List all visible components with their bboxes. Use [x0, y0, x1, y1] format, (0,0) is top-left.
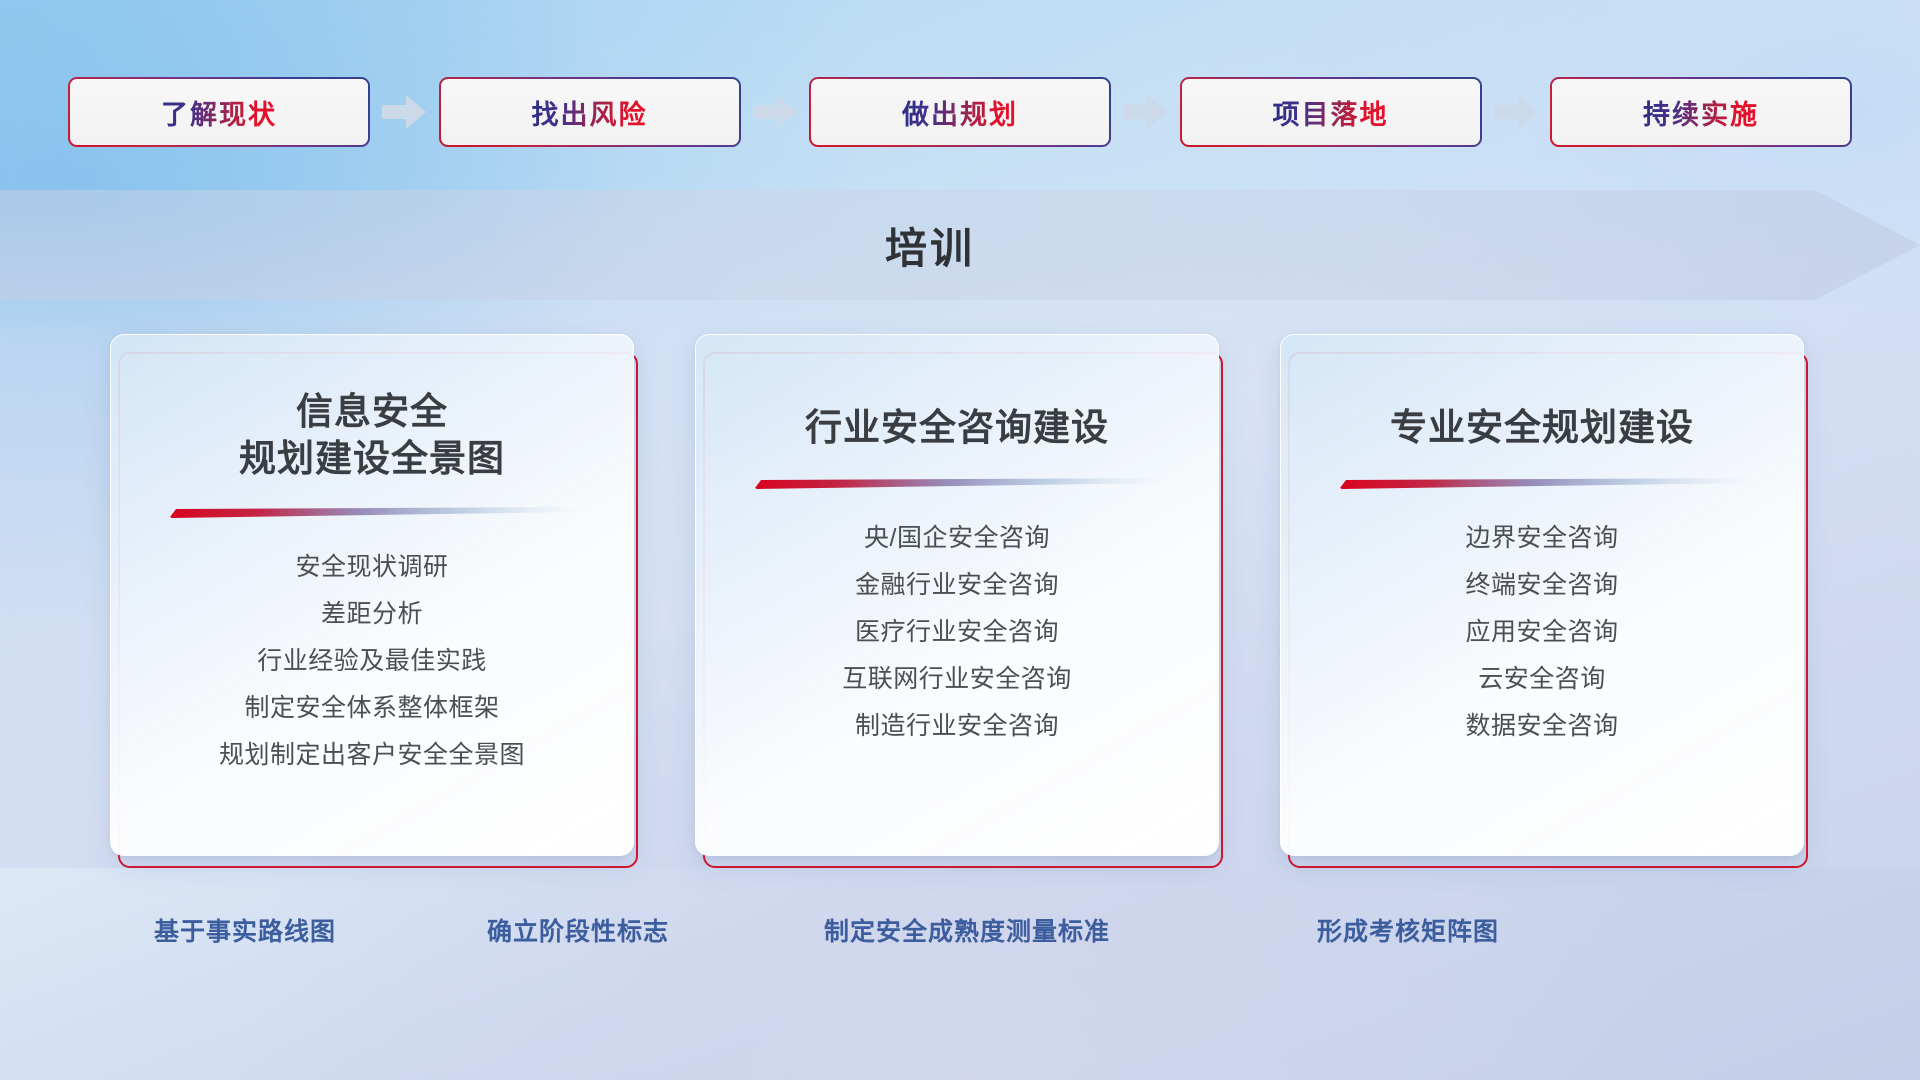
process-step-2[interactable]: 找出风险 [439, 77, 741, 147]
list-item: 金融行业安全咨询 [696, 562, 1218, 609]
list-item: 规划制定出客户安全全景图 [111, 732, 633, 779]
card-3-title: 专业安全规划建设 [1390, 405, 1694, 452]
list-item: 边界安全咨询 [1281, 515, 1803, 562]
process-step-5[interactable]: 持续实施 [1550, 77, 1852, 147]
list-item: 终端安全咨询 [1281, 562, 1803, 609]
process-step-4[interactable]: 项目落地 [1180, 77, 1482, 147]
process-step-5-label: 持续实施 [1643, 93, 1759, 132]
list-item: 制定安全体系整体框架 [111, 685, 633, 732]
process-step-3[interactable]: 做出规划 [809, 77, 1111, 147]
card-2[interactable]: 行业安全咨询建设 央/国企安全咨询 [695, 334, 1219, 856]
card-3-list: 边界安全咨询 终端安全咨询 应用安全咨询 云安全咨询 数据安全咨询 [1281, 515, 1803, 750]
chevron-right-arrow-icon [382, 95, 426, 129]
process-step-2-label: 找出风险 [532, 93, 648, 132]
list-item: 应用安全咨询 [1281, 609, 1803, 656]
card-1[interactable]: 信息安全 规划建设全景图 安全现状调研 [110, 334, 634, 856]
process-step-3-label: 做出规划 [902, 93, 1018, 132]
card-1-divider [170, 507, 574, 518]
chevron-right-arrow-icon [753, 95, 797, 129]
card-1-title: 信息安全 规划建设全景图 [239, 389, 505, 483]
list-item: 差距分析 [111, 591, 633, 638]
card-2-list: 央/国企安全咨询 金融行业安全咨询 医疗行业安全咨询 互联网行业安全咨询 制造行… [696, 515, 1218, 750]
process-step-1-inner: 了解现状 [70, 79, 368, 145]
card-2-title: 行业安全咨询建设 [805, 405, 1109, 452]
list-item: 制造行业安全咨询 [696, 703, 1218, 750]
process-step-5-inner: 持续实施 [1552, 79, 1850, 145]
process-step-4-label: 项目落地 [1273, 93, 1389, 132]
process-step-row: 了解现状 找出风险 做出规划 项目落地 持续实施 [68, 76, 1852, 148]
chevron-right-arrow-icon [1494, 95, 1538, 129]
card-3[interactable]: 专业安全规划建设 边界安全咨询 [1280, 334, 1804, 856]
process-step-4-inner: 项目落地 [1182, 79, 1480, 145]
list-item: 安全现状调研 [111, 544, 633, 591]
card-2-divider [755, 478, 1159, 489]
bottom-label-row: 基于事实路线图 确立阶段性标志 制定安全成熟度测量标准 形成考核矩阵图 [0, 912, 1920, 958]
list-item: 互联网行业安全咨询 [696, 656, 1218, 703]
process-step-1[interactable]: 了解现状 [68, 77, 370, 147]
bottom-label-1: 基于事实路线图 [154, 912, 336, 948]
list-item: 央/国企安全咨询 [696, 515, 1218, 562]
bottom-label-3: 制定安全成熟度测量标准 [824, 912, 1110, 948]
card-3-divider [1340, 478, 1744, 489]
card-1-list: 安全现状调研 差距分析 行业经验及最佳实践 制定安全体系整体框架 规划制定出客户… [111, 544, 633, 779]
list-item: 云安全咨询 [1281, 656, 1803, 703]
process-step-3-inner: 做出规划 [811, 79, 1109, 145]
card-2-wrapper: 行业安全咨询建设 央/国企安全咨询 [695, 334, 1225, 870]
bottom-label-4: 形成考核矩阵图 [1317, 912, 1499, 948]
bottom-label-2: 确立阶段性标志 [487, 912, 669, 948]
list-item: 行业经验及最佳实践 [111, 638, 633, 685]
card-row: 信息安全 规划建设全景图 安全现状调研 [110, 334, 1810, 870]
list-item: 医疗行业安全咨询 [696, 609, 1218, 656]
card-3-wrapper: 专业安全规划建设 边界安全咨询 [1280, 334, 1810, 870]
card-1-wrapper: 信息安全 规划建设全景图 安全现状调研 [110, 334, 640, 870]
training-banner: 培训 [0, 190, 1920, 300]
process-step-1-label: 了解现状 [161, 93, 277, 132]
list-item: 数据安全咨询 [1281, 703, 1803, 750]
process-step-2-inner: 找出风险 [441, 79, 739, 145]
training-banner-label: 培训 [0, 190, 1920, 300]
chevron-right-arrow-icon [1123, 95, 1167, 129]
